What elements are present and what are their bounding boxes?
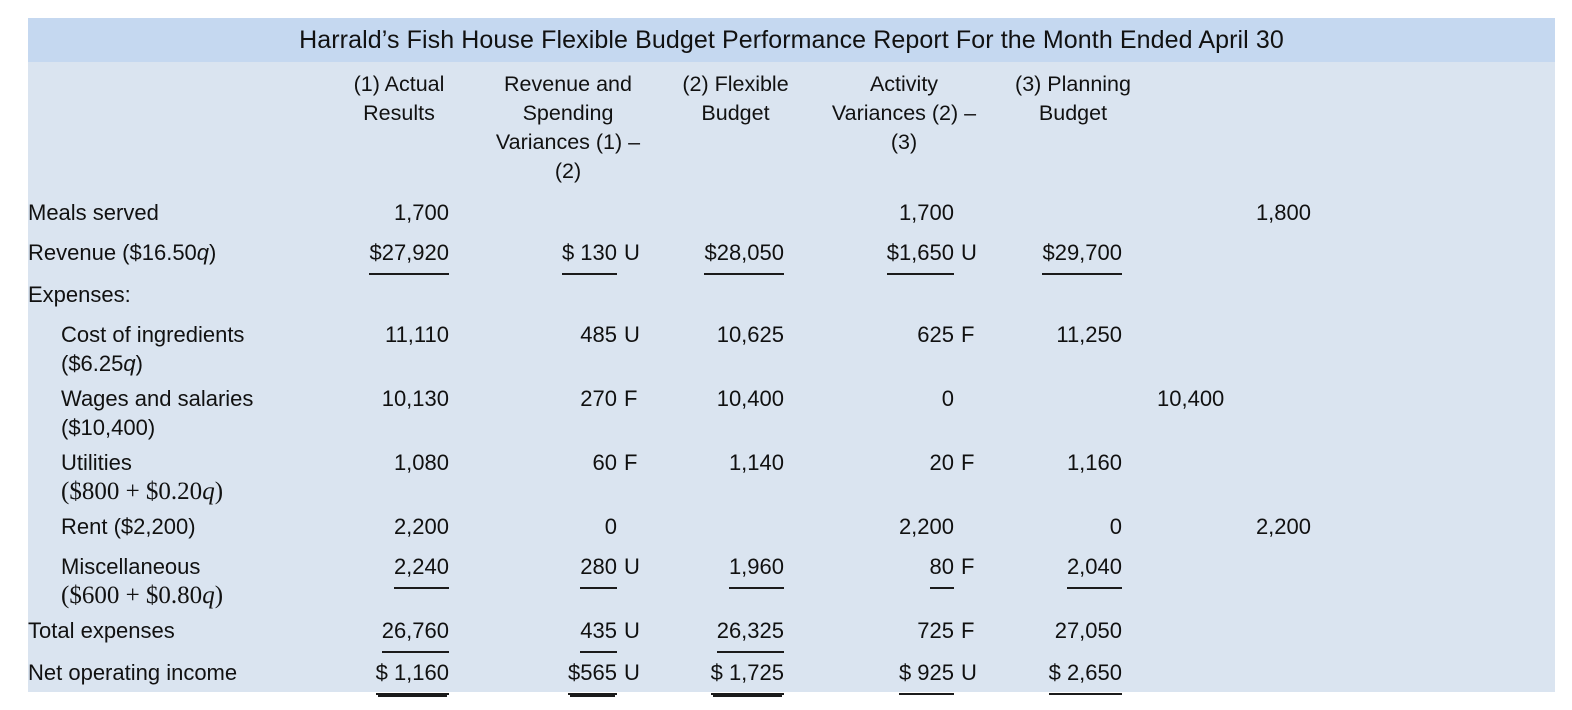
value: 2,200 [899, 507, 954, 547]
value: 1,960 [729, 547, 784, 589]
value: 10,400 [717, 379, 784, 419]
cell-miscellaneous-flexible: 1,960 [652, 547, 819, 589]
header-line: (3) [825, 128, 983, 157]
cell-rent-rsv: 0 [484, 507, 652, 547]
row-label-expenses-heading: Expenses: [28, 275, 314, 315]
report-row-wages-and-salaries: Wages and salaries($10,400)10,130270F10,… [28, 379, 1555, 443]
cell-revenue-actual: $27,920 [314, 233, 484, 275]
report-body: Meals served1,7001,7001,800Revenue ($16.… [28, 186, 1555, 695]
value: $27,920 [369, 233, 449, 275]
report-title-banner: Harrald’s Fish House Flexible Budget Per… [28, 18, 1555, 62]
variance-flag: U [954, 653, 983, 693]
value: 11,250 [1056, 315, 1122, 355]
variance-flag: F [954, 315, 983, 355]
variance-flag: U [617, 315, 646, 355]
value: $ 2,650 [1049, 653, 1122, 695]
value: 80 [930, 547, 954, 589]
report-row-utilities: Utilities($800 + $0.20q)1,08060F1,14020F… [28, 443, 1555, 507]
value: 2,040 [1067, 547, 1122, 589]
cell-miscellaneous-planning: 2,040 [989, 547, 1157, 589]
report-row-expenses-heading: Expenses: [28, 275, 1555, 315]
row-label-total-expenses: Total expenses [28, 611, 314, 651]
variance-flag: U [954, 233, 983, 273]
header-line: Revenue and [490, 70, 646, 99]
cell-miscellaneous-activity: 80F [819, 547, 989, 589]
value: $565 [568, 653, 617, 695]
header-line: Results [320, 99, 478, 128]
cell-rent-activity: 2,200 [819, 507, 989, 547]
activity-variable-symbol: q [202, 478, 215, 505]
row-label-wages-and-salaries: Wages and salaries($10,400) [28, 379, 314, 443]
value: $28,050 [704, 233, 784, 275]
value: 1,080 [394, 443, 449, 483]
value: 280 [580, 547, 617, 589]
header-line: Spending [490, 99, 646, 128]
value: 0 [1110, 507, 1122, 547]
cell-net-operating-income-activity: $ 925U [819, 653, 989, 695]
value: 1,700 [899, 193, 954, 233]
cell-revenue-flexible: $28,050 [652, 233, 819, 275]
cell-meals-served-actual: 1,700 [314, 193, 484, 233]
column-header-actual-results: (1) ActualResults [314, 70, 484, 128]
value: 485 [580, 315, 617, 355]
value: 725 [917, 611, 954, 651]
value: 10,625 [717, 315, 784, 355]
value: $1,650 [887, 233, 954, 275]
value: 1,140 [729, 443, 784, 483]
value: 2,200 [394, 507, 449, 547]
cell-net-operating-income-rsv: $565U [484, 653, 652, 695]
cell-utilities-planning: 1,160 [989, 443, 1157, 483]
cell-net-operating-income-flexible: $ 1,725 [652, 653, 819, 695]
header-line: (3) Planning [995, 70, 1151, 99]
value: 10,130 [382, 379, 449, 419]
row-label-cost-formula-wages-and-salaries: ($10,400) [61, 412, 314, 443]
column-header-row: (1) ActualResults Revenue andSpendingVar… [28, 62, 1555, 186]
header-line: Variances (2) – [825, 99, 983, 128]
cell-cost-of-ingredients-flexible: 10,625 [652, 315, 819, 355]
value: 11,110 [385, 315, 449, 355]
cell-miscellaneous-rsv: 280U [484, 547, 652, 589]
value: 0 [942, 379, 954, 419]
cell-utilities-rsv: 60F [484, 443, 652, 483]
value: $ 130 [562, 233, 617, 275]
row-label-utilities: Utilities($800 + $0.20q) [28, 443, 314, 507]
cell-cost-of-ingredients-rsv: 485U [484, 315, 652, 355]
cell-net-operating-income-actual: $ 1,160 [314, 653, 484, 695]
report-row-rent: Rent ($2,200)2,20002,20002,200 [28, 507, 1555, 547]
report-row-cost-of-ingredients: Cost of ingredients($6.25q)11,110485U10,… [28, 315, 1555, 379]
cell-cost-of-ingredients-actual: 11,110 [314, 315, 484, 355]
row-label-cost-formula-miscellaneous: ($600 + $0.80q) [61, 580, 314, 611]
cell-rent-planning: 0 [989, 507, 1157, 547]
value: $ 925 [899, 653, 954, 695]
row-label-rent: Rent ($2,200) [28, 507, 314, 547]
column-header-planning-budget: (3) PlanningBudget [989, 70, 1157, 128]
cell-revenue-activity: $1,650U [819, 233, 989, 275]
value: 1,700 [394, 193, 449, 233]
value: 0 [605, 507, 617, 547]
activity-variable-symbol: q [123, 351, 135, 376]
column-header-activity-variances: ActivityVariances (2) –(3) [819, 70, 989, 157]
header-line: (2) Flexible [658, 70, 813, 99]
cell-net-operating-income-planning: $ 2,650 [989, 653, 1157, 695]
cell-revenue-rsv: $ 130U [484, 233, 652, 275]
cell-total-expenses-actual: 26,760 [314, 611, 484, 653]
cell-meals-served-activity: 1,700 [819, 193, 989, 233]
variance-flag: F [617, 443, 646, 483]
value: $ 1,725 [711, 653, 784, 695]
report-row-total-expenses: Total expenses26,760435U26,325725F27,050 [28, 611, 1555, 653]
cell-wages-and-salaries-actual: 10,130 [314, 379, 484, 419]
row-label-revenue: Revenue ($16.50q) [28, 233, 314, 273]
column-header-revenue-spending-variances: Revenue andSpendingVariances (1) – (2) [484, 70, 652, 186]
cell-total-expenses-activity: 725F [819, 611, 989, 651]
variance-flag: F [954, 611, 983, 651]
variance-flag: U [617, 233, 646, 273]
report-title: Harrald’s Fish House Flexible Budget Per… [299, 26, 1284, 55]
column-header-flexible-budget: (2) FlexibleBudget [652, 70, 819, 128]
cell-miscellaneous-actual: 2,240 [314, 547, 484, 589]
activity-variable-symbol: q [197, 240, 209, 265]
cell-utilities-activity: 20F [819, 443, 989, 483]
value: 270 [580, 379, 617, 419]
cell-wages-and-salaries-flexible: 10,400 [652, 379, 819, 419]
report-row-miscellaneous: Miscellaneous($600 + $0.80q)2,240280U1,9… [28, 547, 1555, 611]
cell-total-expenses-rsv: 435U [484, 611, 652, 653]
cell-rent-overflow: 2,200 [1157, 507, 1317, 547]
cell-total-expenses-flexible: 26,325 [652, 611, 819, 653]
row-label-net-operating-income: Net operating income [28, 653, 314, 693]
row-label-miscellaneous: Miscellaneous($600 + $0.80q) [28, 547, 314, 611]
value: 2,240 [394, 547, 449, 589]
value: 435 [580, 611, 617, 653]
cell-meals-served-overflow: 1,800 [1157, 193, 1317, 233]
row-label-cost-formula-utilities: ($800 + $0.20q) [61, 476, 314, 507]
cell-cost-of-ingredients-activity: 625F [819, 315, 989, 355]
value: $ 1,160 [376, 653, 449, 695]
cell-wages-and-salaries-activity: 0 [819, 379, 989, 419]
value: 27,050 [1055, 611, 1122, 651]
header-line: Budget [658, 99, 813, 128]
value: $29,700 [1042, 233, 1122, 275]
variance-flag: U [617, 611, 646, 651]
report-row-net-operating-income: Net operating income$ 1,160$565U$ 1,725$… [28, 653, 1555, 695]
cell-utilities-flexible: 1,140 [652, 443, 819, 483]
variance-flag: F [954, 443, 983, 483]
row-label-cost-formula-cost-of-ingredients: ($6.25q) [61, 348, 314, 379]
value: 625 [917, 315, 954, 355]
cell-revenue-planning: $29,700 [989, 233, 1157, 275]
cell-wages-and-salaries-overflow: 10,400 [1157, 379, 1317, 419]
report-row-revenue: Revenue ($16.50q)$27,920$ 130U$28,050$1,… [28, 233, 1555, 275]
cell-utilities-actual: 1,080 [314, 443, 484, 483]
cell-rent-actual: 2,200 [314, 507, 484, 547]
variance-flag: F [954, 547, 983, 587]
variance-flag: F [617, 379, 646, 419]
header-line: (1) Actual [320, 70, 478, 99]
row-label-meals-served: Meals served [28, 193, 314, 233]
header-line: Budget [995, 99, 1151, 128]
value: 60 [593, 443, 617, 483]
cell-cost-of-ingredients-planning: 11,250 [989, 315, 1157, 355]
row-label-cost-of-ingredients: Cost of ingredients($6.25q) [28, 315, 314, 379]
header-line: Activity [825, 70, 983, 99]
flexible-budget-performance-report: Harrald’s Fish House Flexible Budget Per… [28, 18, 1555, 692]
cell-wages-and-salaries-rsv: 270F [484, 379, 652, 419]
value: 26,325 [717, 611, 784, 653]
value: 20 [930, 443, 954, 483]
variance-flag: U [617, 653, 646, 693]
report-row-meals-served: Meals served1,7001,7001,800 [28, 193, 1555, 233]
value: 26,760 [382, 611, 449, 653]
activity-variable-symbol: q [202, 582, 215, 609]
cell-total-expenses-planning: 27,050 [989, 611, 1157, 651]
variance-flag: U [617, 547, 646, 587]
header-line: Variances (1) – (2) [490, 128, 646, 186]
value: 1,160 [1067, 443, 1122, 483]
